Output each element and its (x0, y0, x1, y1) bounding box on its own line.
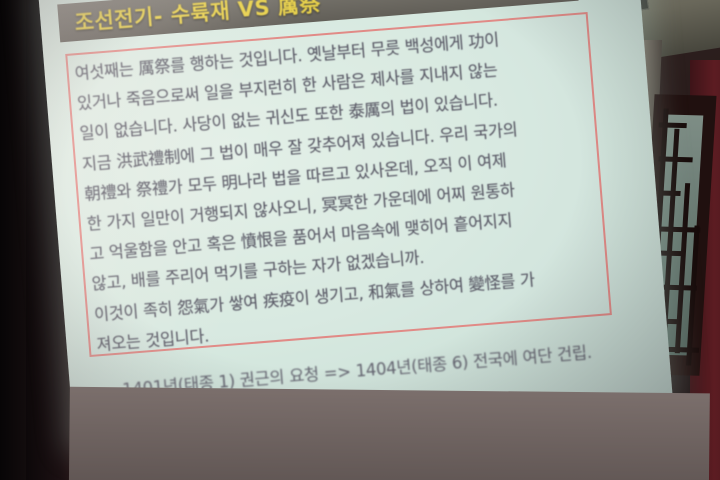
slide-body-text: 여섯째는 厲祭를 행하는 것입니다. 옛날부터 무릇 백성에게 功이 있거나 죽… (74, 18, 609, 360)
lattice-bar (658, 156, 692, 162)
screen-bottom-edge (69, 387, 710, 480)
lattice-bar (659, 122, 687, 128)
presentation-photo: 조선전기- 수륙재 VS 厲祭 여섯째는 厲祭를 행하는 것입니다. 옛날부터 … (0, 0, 720, 480)
slide-content: 조선전기- 수륙재 VS 厲祭 여섯째는 厲祭를 행하는 것입니다. 옛날부터 … (38, 0, 673, 444)
projection-screen: 조선전기- 수륙재 VS 厲祭 여섯째는 厲祭를 행하는 것입니다. 옛날부터 … (38, 0, 674, 458)
lattice-bar (658, 190, 680, 196)
left-dark-edge (0, 0, 26, 480)
